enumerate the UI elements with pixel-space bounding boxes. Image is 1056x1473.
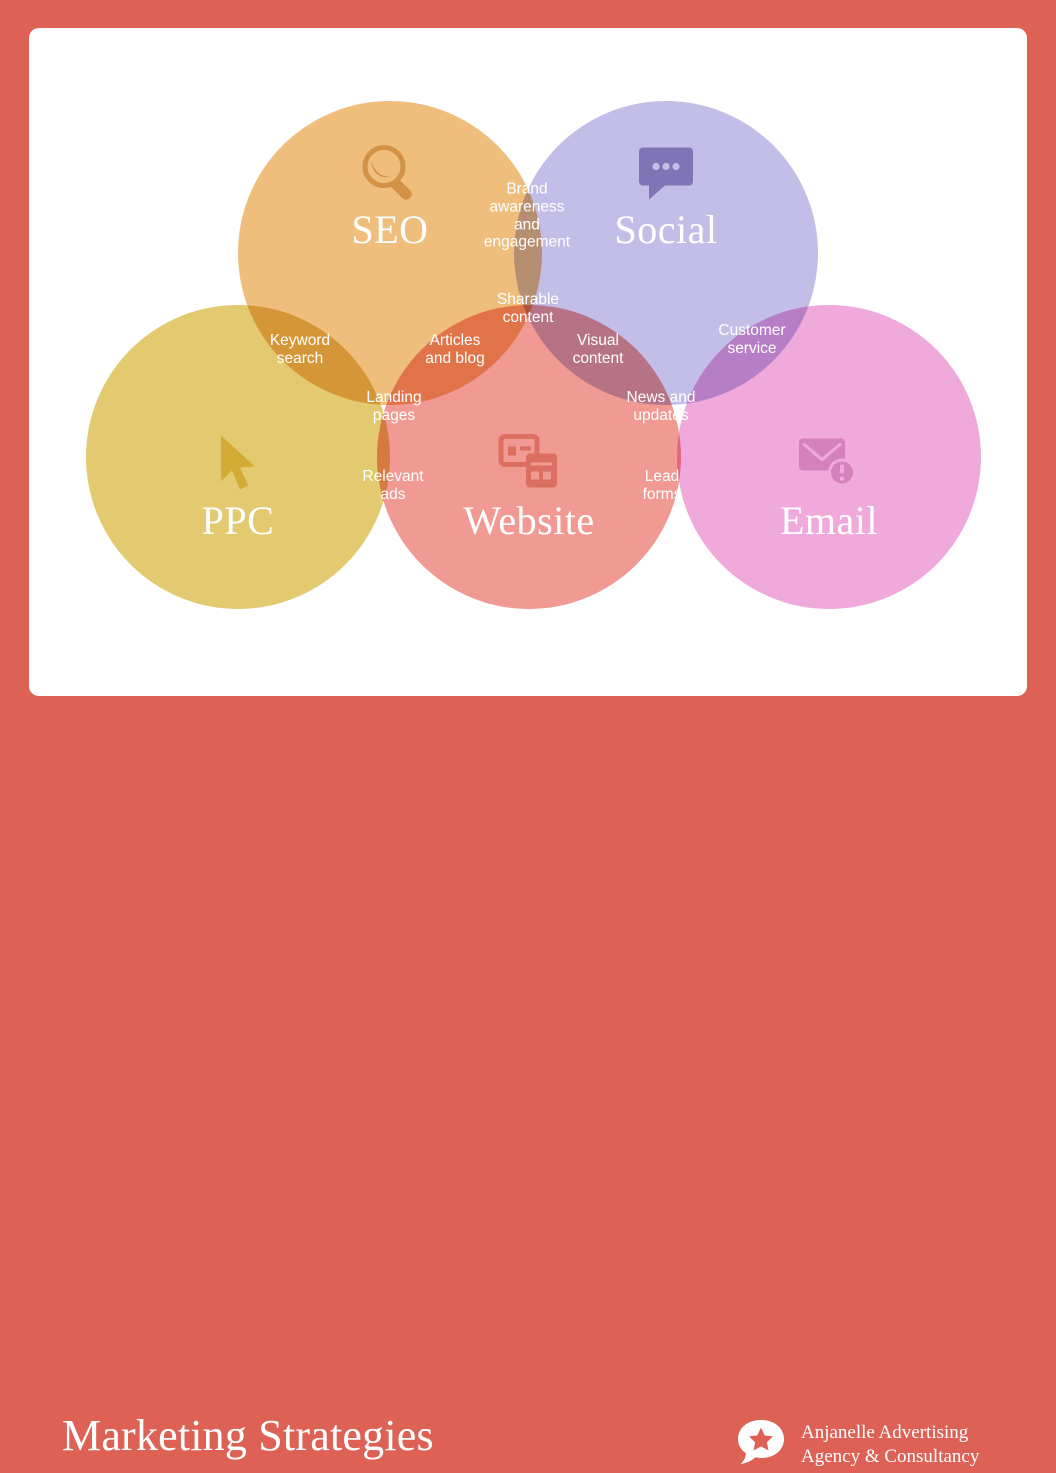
brand-lockup: Anjanelle Advertising Agency & Consultan… (735, 1416, 979, 1473)
diagram-panel: SEO Social PPC (29, 28, 1027, 696)
brand-name: Anjanelle Advertising Agency & Consultan… (801, 1421, 979, 1469)
infographic-canvas: SEO Social PPC (0, 0, 1056, 816)
venn-circle-email[interactable] (677, 305, 981, 609)
footer-bar: Marketing Strategies Anjanelle Advertisi… (0, 696, 1056, 816)
page-title: Marketing Strategies (62, 1414, 434, 1458)
speech-bubble-star-logo (735, 1416, 787, 1473)
venn-circle-website[interactable] (377, 305, 681, 609)
venn-circle-ppc[interactable] (86, 305, 390, 609)
brand-line-2: Agency & Consultancy (801, 1445, 979, 1469)
brand-line-1: Anjanelle Advertising (801, 1421, 979, 1445)
venn-diagram (29, 28, 1027, 696)
